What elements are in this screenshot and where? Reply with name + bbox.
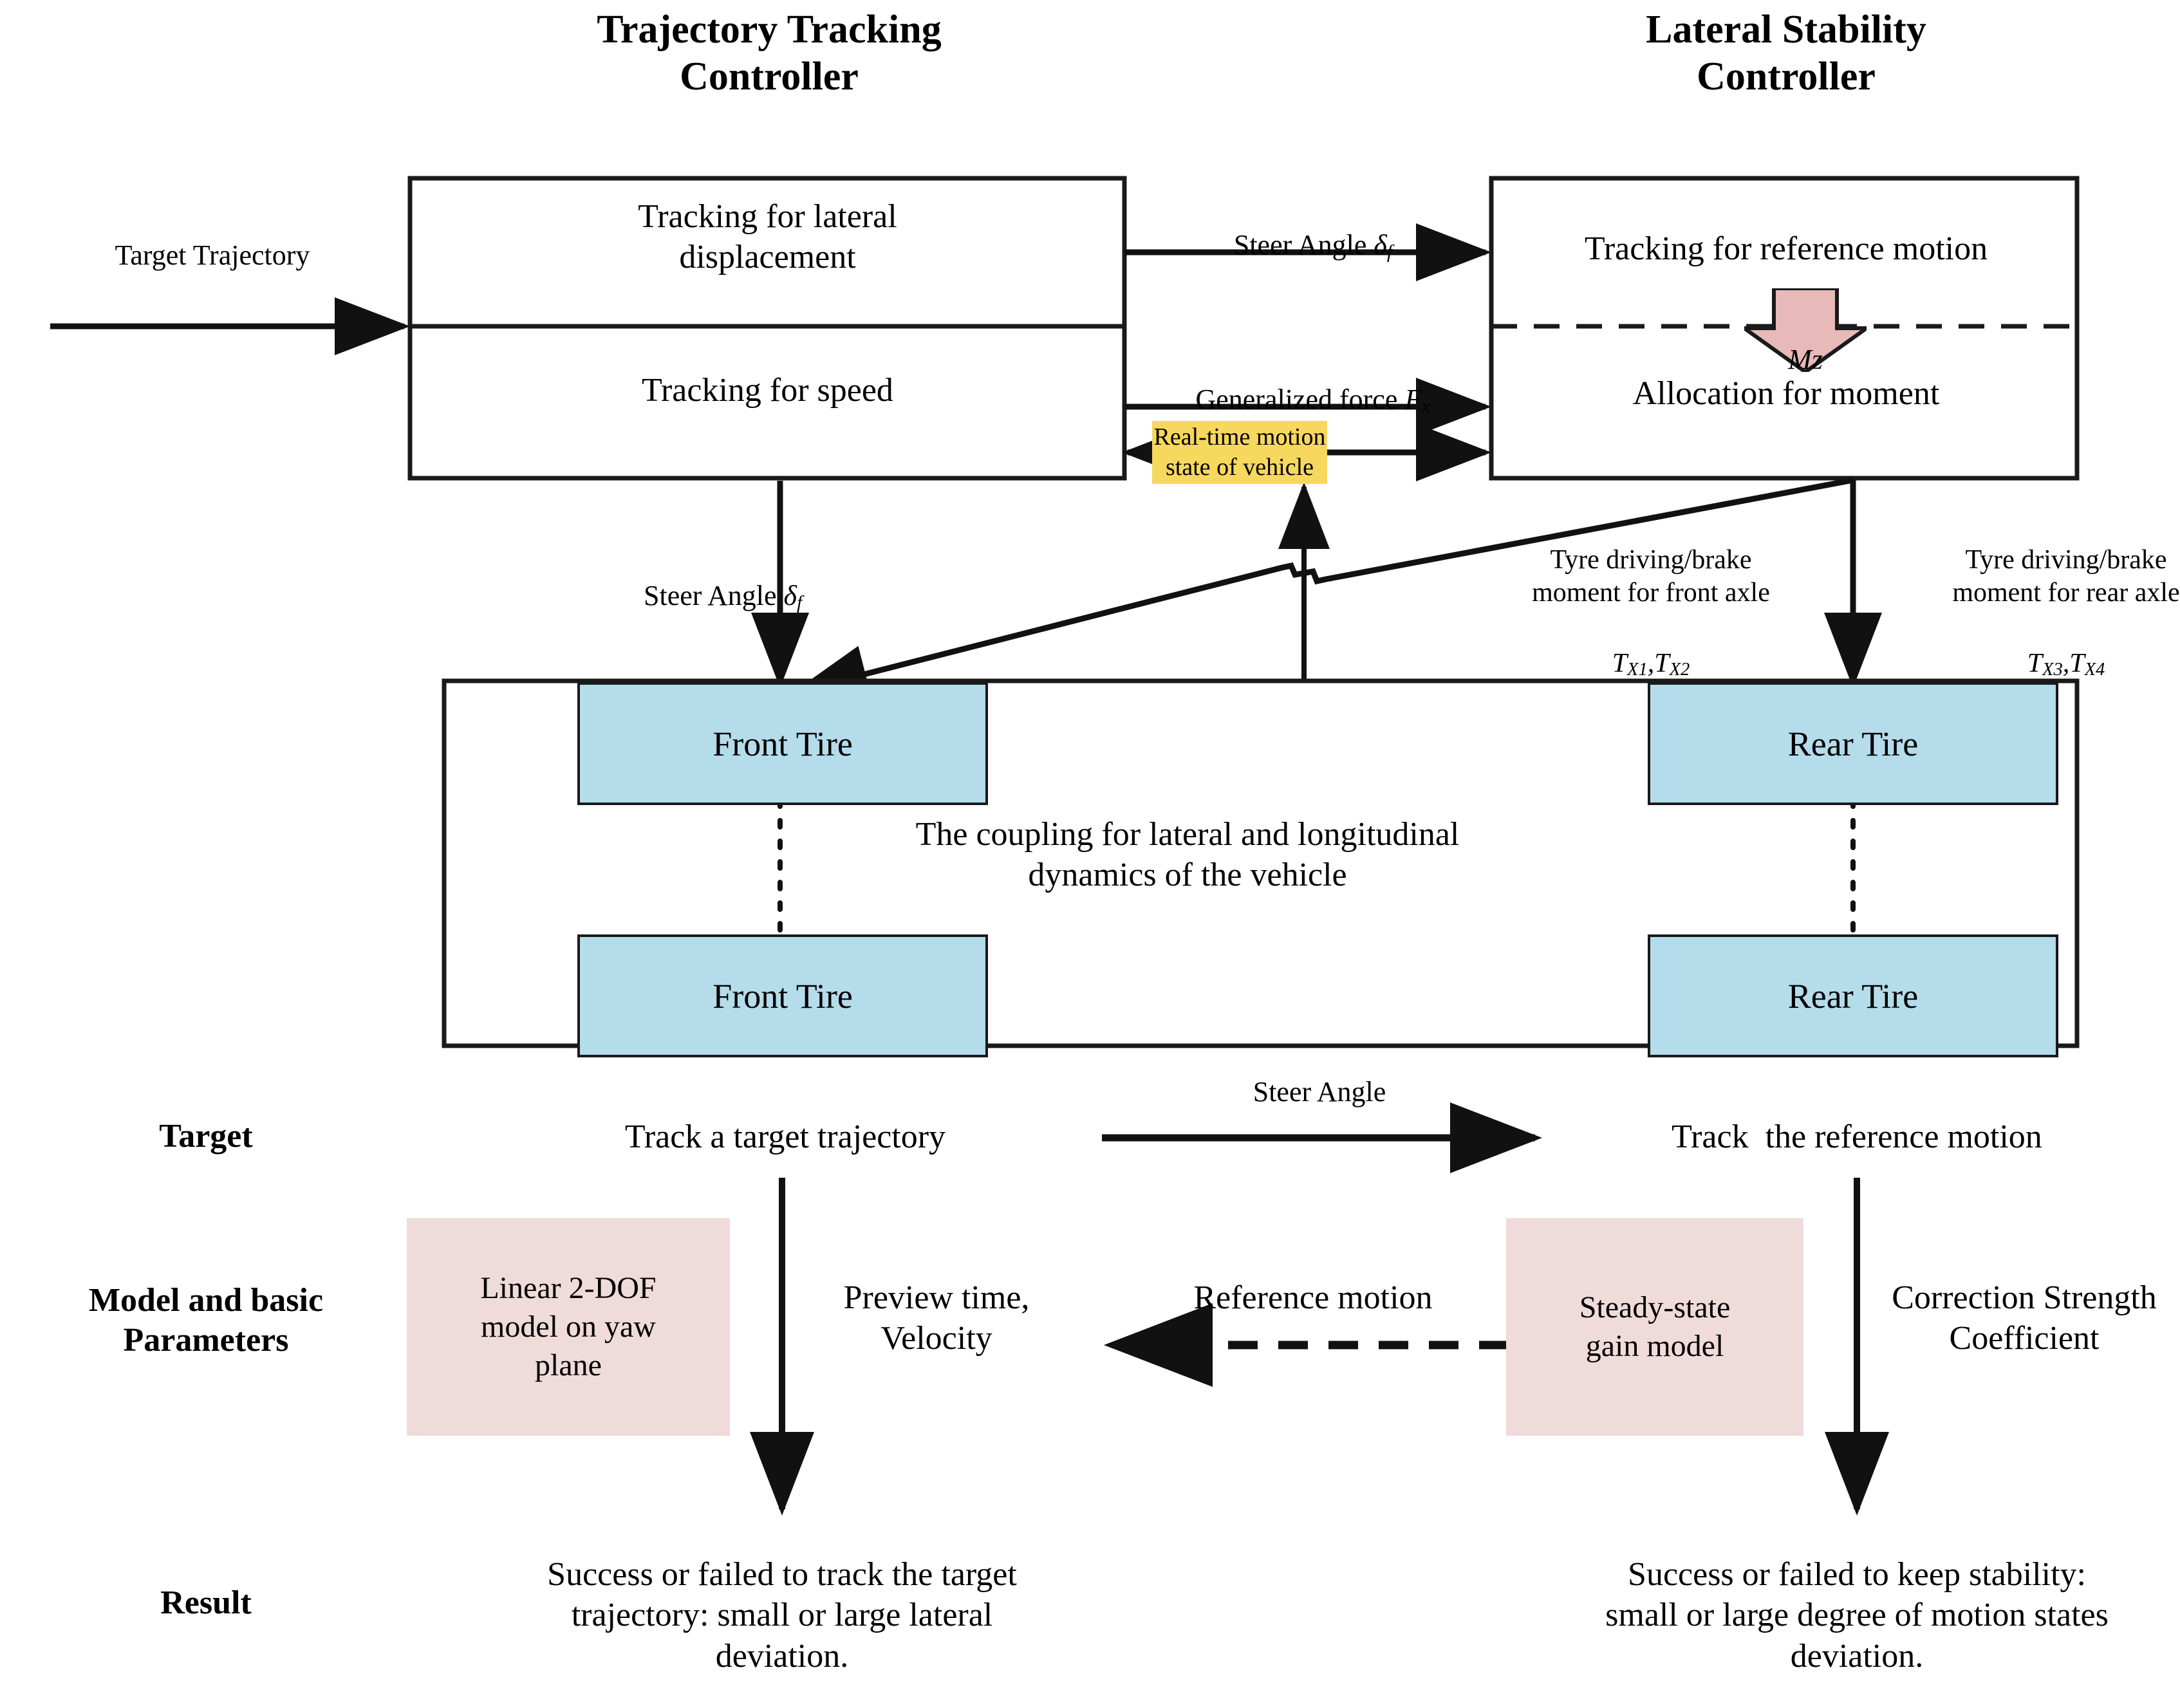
tracking-lateral-displacement-label: Tracking for lateral displacement: [422, 196, 1113, 278]
tire-label-rear-top: Rear Tire: [1788, 724, 1919, 764]
generalized-force-label: Generalized force Fx: [1133, 348, 1493, 418]
target-row-left-text: Track a target trajectory: [534, 1117, 1036, 1157]
realtime-motion-state-label: Real-time motion state of vehicle: [1153, 422, 1325, 483]
rear-axle-moment-label: Tyre driving/brake moment for rear axle: [1867, 544, 2180, 609]
tire-label-front-top: Front Tire: [713, 724, 853, 764]
vehicle-dynamics-caption: The coupling for lateral and longitudina…: [837, 814, 1538, 896]
front-axle-symbols-text: TX1,TX2: [1612, 649, 1690, 678]
allocation-moment-label: Allocation for moment: [1500, 373, 2073, 414]
tire-box-front-bottom: Front Tire: [577, 934, 988, 1057]
tire-box-rear-bottom: Rear Tire: [1648, 934, 2058, 1057]
right-section-header: Lateral Stability Controller: [1429, 6, 2143, 100]
target-trajectory-label: Target Trajectory: [45, 238, 380, 273]
steer-angle-down-text: Steer Angle: [644, 580, 777, 611]
steer-angle-subscript: f: [1387, 241, 1392, 262]
moment-symbol: Mz: [1788, 344, 1823, 375]
preview-time-velocity-label: Preview time, Velocity: [795, 1277, 1078, 1359]
model-box-linear-2dof-label: Linear 2-DOF model on yaw plane: [480, 1269, 656, 1385]
steer-angle-down-label: Steer Angle δf: [644, 544, 1056, 615]
diagram-canvas: Trajectory Tracking Controller Lateral S…: [0, 0, 2180, 1708]
tire-label-front-bottom: Front Tire: [713, 976, 853, 1016]
reference-motion-label: Reference motion: [1120, 1277, 1506, 1318]
front-axle-moment-label: Tyre driving/brake moment for front axle: [1451, 544, 1850, 609]
steer-angle-down-subscript: f: [797, 591, 802, 613]
rear-axle-moment-symbols: TX3,TX4: [1867, 615, 2180, 682]
steer-angle-text: Steer Angle: [1234, 229, 1367, 261]
correction-strength-coefficient-label: Correction Strength Coefficient: [1870, 1277, 2179, 1359]
steer-angle-signal-label: Steer Angle δf: [1146, 193, 1480, 264]
realtime-motion-state-box: Real-time motion state of vehicle: [1152, 421, 1327, 484]
model-box-steady-state-gain: Steady-state gain model: [1506, 1218, 1803, 1436]
result-row-left-text: Success or failed to track the target tr…: [489, 1554, 1075, 1676]
tracking-speed-label: Tracking for speed: [422, 370, 1113, 411]
tire-box-rear-top: Rear Tire: [1648, 682, 2058, 805]
front-axle-moment-symbols: TX1,TX2: [1451, 615, 1850, 682]
target-row-arrow-label: Steer Angle: [1139, 1075, 1500, 1109]
tire-box-front-top: Front Tire: [577, 682, 988, 805]
left-section-header: Trajectory Tracking Controller: [393, 6, 1146, 100]
model-box-linear-2dof: Linear 2-DOF model on yaw plane: [407, 1218, 730, 1436]
tire-label-rear-bottom: Rear Tire: [1788, 976, 1919, 1016]
row-label-model-parameters: Model and basic Parameters: [32, 1281, 380, 1361]
moment-arrow-label: Mz: [1744, 308, 1867, 376]
tracking-reference-motion-label: Tracking for reference motion: [1500, 228, 2073, 269]
result-row-right-text: Success or failed to keep stability: sma…: [1535, 1554, 2179, 1676]
model-box-steady-state-gain-label: Steady-state gain model: [1579, 1288, 1731, 1366]
target-row-right-text: Track the reference motion: [1570, 1117, 2143, 1157]
rear-axle-symbols-text: TX3,TX4: [2027, 649, 2105, 678]
row-label-target: Target: [71, 1117, 341, 1156]
generalized-force-text: Generalized force: [1195, 384, 1397, 415]
row-label-result: Result: [71, 1583, 341, 1623]
generalized-force-subscript: x: [1422, 395, 1430, 416]
